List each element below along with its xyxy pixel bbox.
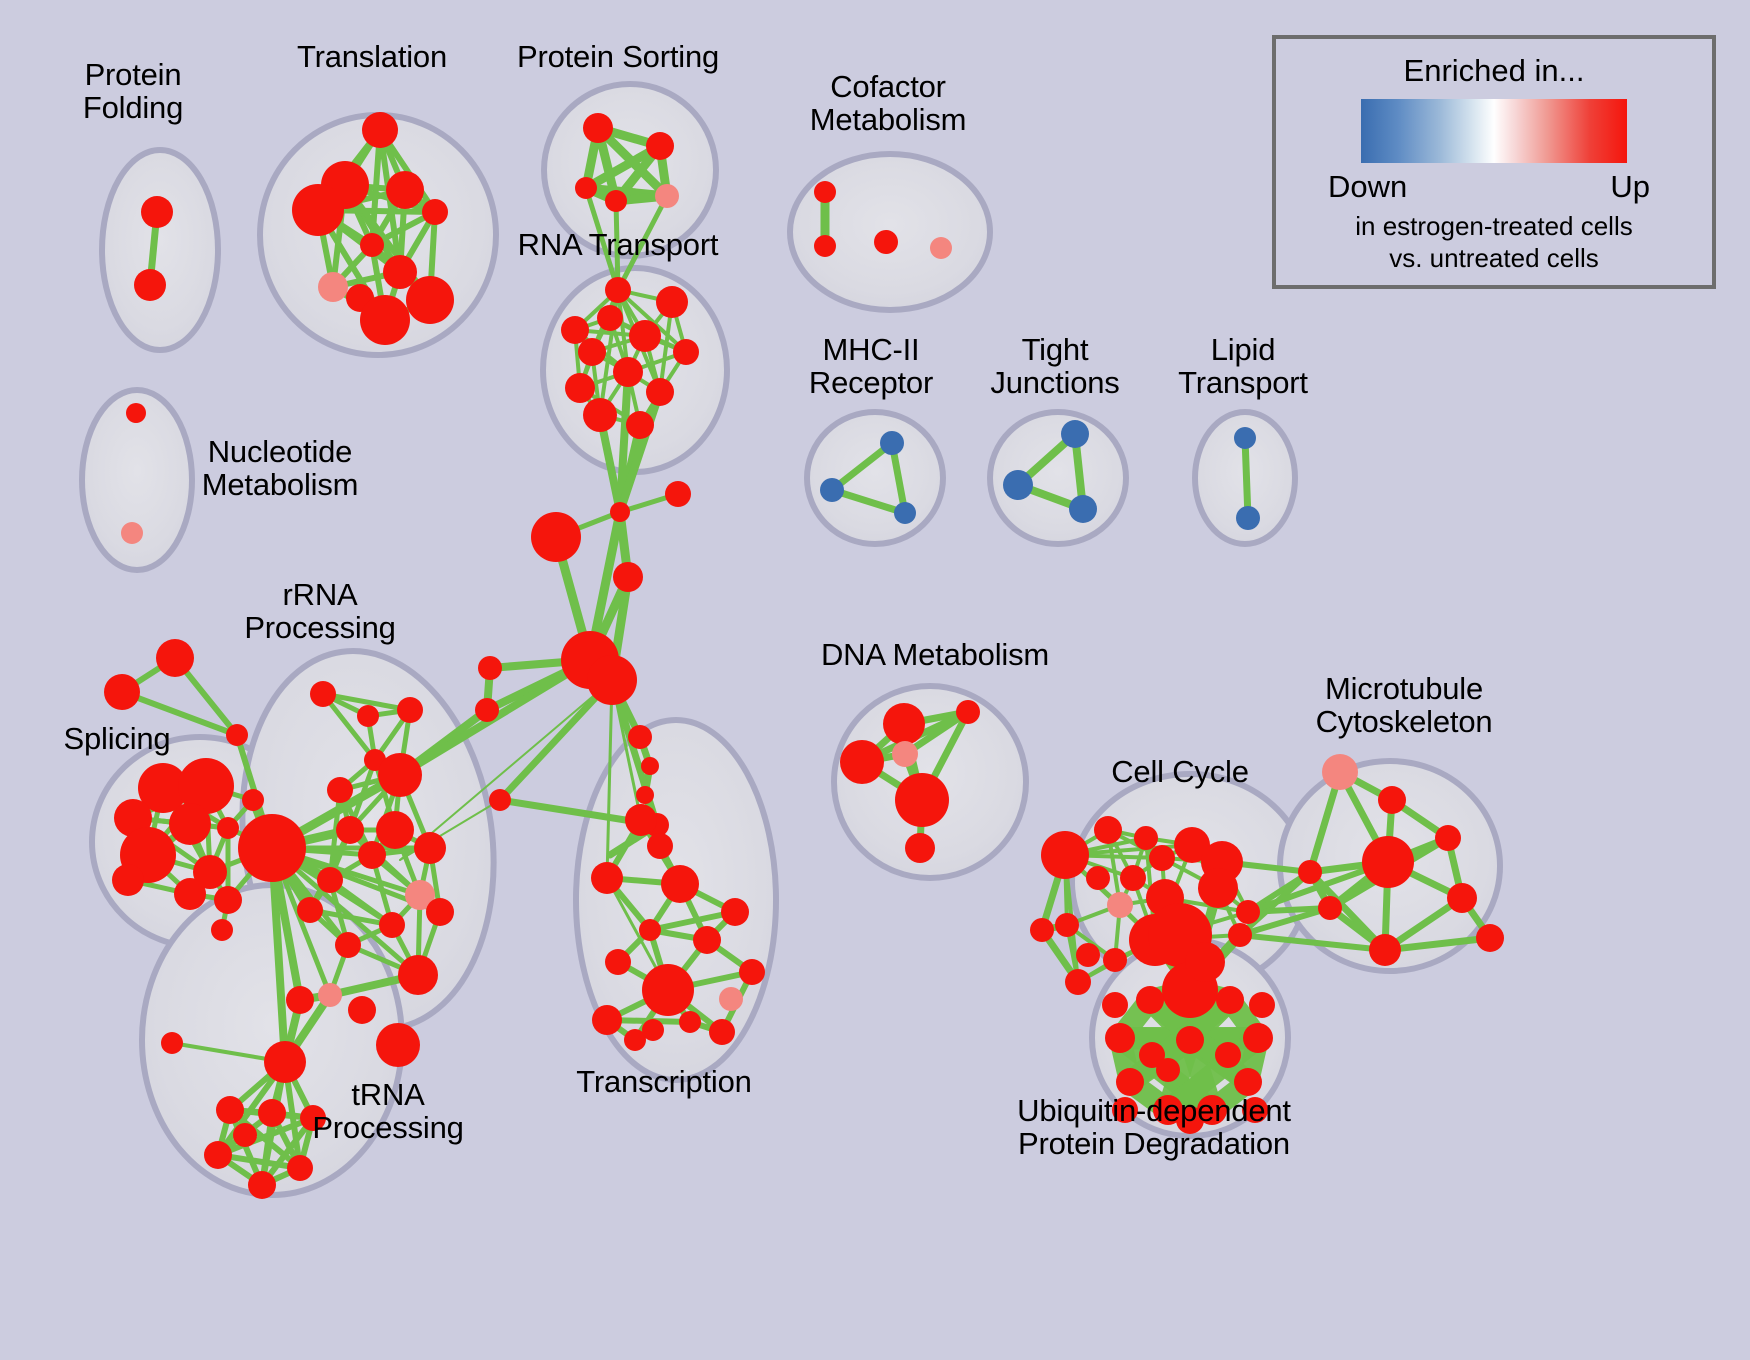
cluster-label-mhc-ii-receptor: MHC-II Receptor: [809, 333, 933, 400]
cluster-label-nucleotide-metabolism: Nucleotide Metabolism: [202, 435, 359, 502]
cluster-label-rna-transport: RNA Transport: [518, 228, 719, 261]
cluster-label-transcription: Transcription: [576, 1065, 751, 1098]
cluster-label-splicing: Splicing: [64, 722, 171, 755]
cluster-label-lipid-transport: Lipid Transport: [1178, 333, 1308, 400]
legend-up-label: Up: [1610, 169, 1650, 205]
cluster-label-protein-sorting: Protein Sorting: [517, 40, 719, 73]
color-gradient-bar: [1361, 99, 1627, 163]
cluster-label-dna-metabolism: DNA Metabolism: [821, 638, 1049, 671]
enrichment-network-figure: Protein Folding Translation Protein Sort…: [0, 0, 1750, 1360]
cluster-label-microtubule-cytoskeleton: Microtubule Cytoskeleton: [1316, 672, 1493, 739]
cluster-label-tight-junctions: Tight Junctions: [990, 333, 1119, 400]
cluster-label-rrna-processing: rRNA Processing: [244, 578, 395, 645]
cluster-label-protein-folding: Protein Folding: [83, 58, 183, 125]
legend-title: Enriched in...: [1276, 53, 1712, 89]
legend-down-label: Down: [1328, 169, 1407, 205]
cluster-label-translation: Translation: [297, 40, 447, 73]
legend-subtitle-line2: vs. untreated cells: [1276, 243, 1712, 273]
cluster-label-trna-processing: tRNA Processing: [312, 1078, 463, 1145]
cluster-label-cell-cycle: Cell Cycle: [1111, 755, 1249, 788]
hull-mhc-ii: [807, 412, 943, 544]
color-legend: Enriched in... Down Up in estrogen-treat…: [1272, 35, 1716, 289]
legend-endpoints: Down Up: [1276, 169, 1712, 209]
hull-protein-folding: [102, 150, 218, 350]
cluster-label-cofactor-metabolism: Cofactor Metabolism: [810, 70, 967, 137]
cluster-label-ubiquitin-degradation: Ubiquitin-dependent Protein Degradation: [1017, 1094, 1291, 1161]
legend-subtitle-line1: in estrogen-treated cells: [1276, 211, 1712, 241]
